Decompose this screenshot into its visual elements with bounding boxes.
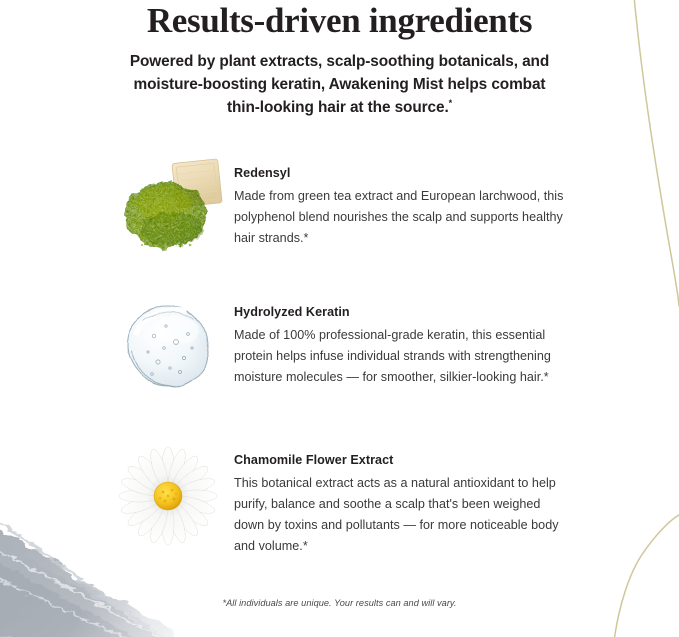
ingredient-text-block: Hydrolyzed Keratin Made of 100% professi… (230, 296, 574, 388)
gel-blob-shape (128, 306, 208, 386)
ingredient-description: This botanical extract acts as a natural… (234, 473, 574, 557)
page-title: Results-driven ingredients (0, 0, 679, 41)
ingredient-item-redensyl: Redensyl Made from green tea extract and… (118, 157, 618, 261)
ingredient-name: Hydrolyzed Keratin (234, 304, 574, 320)
ingredient-name: Chamomile Flower Extract (234, 452, 574, 468)
ingredients-page: Results-driven ingredients Powered by pl… (0, 0, 679, 637)
ingredient-item-chamomile-flower-extract: Chamomile Flower Extract This botanical … (118, 444, 618, 557)
subtitle-superscript-asterisk: * (449, 98, 452, 108)
ingredient-name: Redensyl (234, 165, 574, 181)
ingredient-text-block: Chamomile Flower Extract This botanical … (230, 444, 574, 557)
clear-gel-droplet-image (118, 296, 230, 400)
green-tea-powder-image (118, 157, 230, 261)
disclaimer-footnote: *All individuals are unique. Your result… (0, 598, 679, 608)
page-header: Results-driven ingredients Powered by pl… (0, 0, 679, 119)
flower-petals (119, 447, 217, 545)
ingredient-item-hydrolyzed-keratin: Hydrolyzed Keratin Made of 100% professi… (118, 296, 618, 400)
page-subtitle: Powered by plant extracts, scalp-soothin… (120, 50, 560, 119)
ingredient-text-block: Redensyl Made from green tea extract and… (230, 157, 574, 249)
powder-pile-shape (125, 182, 207, 248)
ingredient-description: Made of 100% professional-grade keratin,… (234, 325, 574, 388)
flower-center (154, 482, 182, 510)
chamomile-flower-image (118, 444, 230, 548)
ingredient-description: Made from green tea extract and European… (234, 186, 574, 249)
page-subtitle-text: Powered by plant extracts, scalp-soothin… (130, 53, 549, 116)
